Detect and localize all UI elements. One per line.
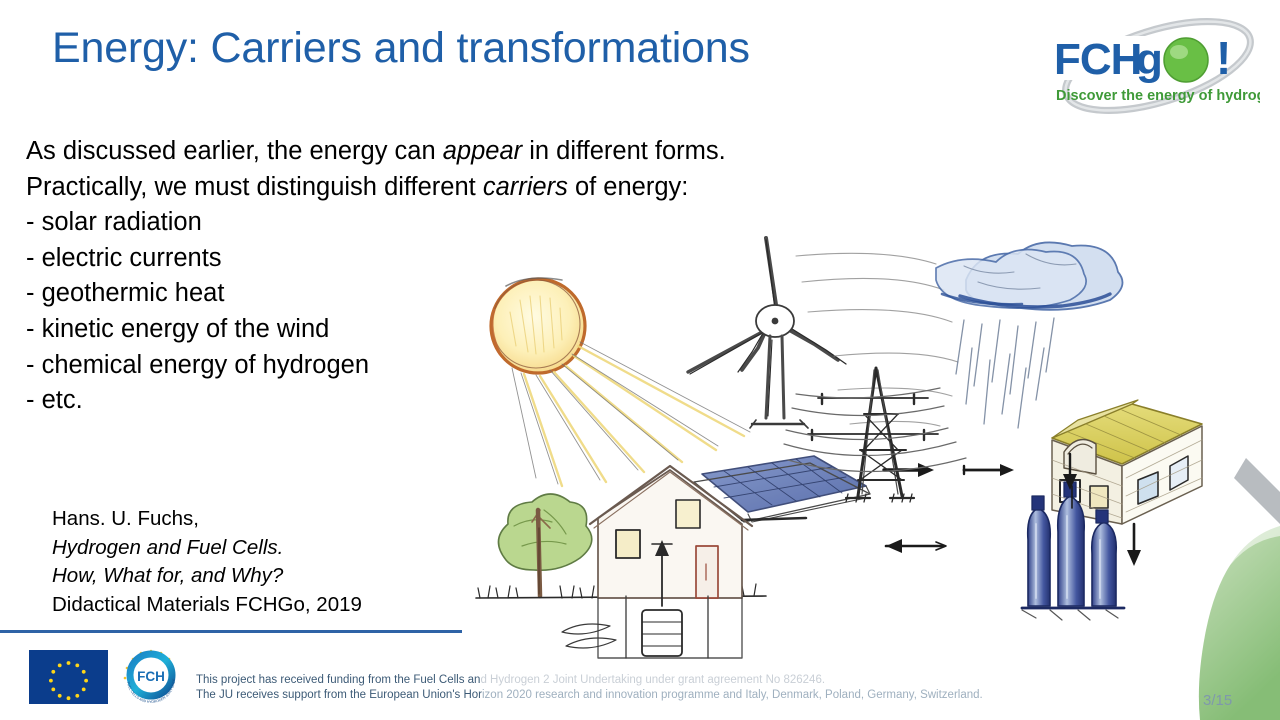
green-blob-shape xyxy=(1199,526,1280,720)
page-number: 3/15 xyxy=(1203,692,1232,709)
brand-tagline: Discover the energy of hydrogen xyxy=(1056,88,1260,104)
arrow-right-1-icon xyxy=(884,463,934,477)
brand-wordmark-fchg: FCH xyxy=(1054,35,1141,84)
funding-line-2: The JU receives support from the Europea… xyxy=(196,688,1196,703)
body-line-1: As discussed earlier, the energy can app… xyxy=(26,134,866,170)
funding-statement: This project has received funding from t… xyxy=(196,673,1196,703)
fchgo-logo-svg: FCH g ! Discover the energy of hydrogen xyxy=(1040,18,1260,114)
gray-chevron-shape xyxy=(1234,458,1280,524)
tree-icon xyxy=(498,494,591,596)
eu-flag-svg xyxy=(29,650,108,704)
citation-subtitle: How, What for, and Why? xyxy=(52,562,362,591)
funding-line-1-occluded: d Hydrogen 2 Joint Undertaking under gra… xyxy=(480,674,825,686)
fch-ju-logo: FCH FUEL CELLS AND HYDROGEN JOINT UNDERT… xyxy=(118,646,184,708)
body-line-2-part-b: of energy: xyxy=(568,173,689,201)
european-union-flag xyxy=(29,650,108,704)
body-line-2-part-a: Practically, we must distinguish differe… xyxy=(26,173,483,201)
citation-title: Hydrogen and Fuel Cells. xyxy=(52,534,362,563)
funding-line-2-faded: izon 2020 research and innovation progra… xyxy=(482,689,983,701)
fch-ju-logo-svg: FCH FUEL CELLS AND HYDROGEN JOINT UNDERT… xyxy=(118,646,184,708)
fch-logo-text: FCH xyxy=(137,669,165,684)
energy-carriers-illustration-svg xyxy=(466,228,1206,698)
arrow-left-icon xyxy=(886,539,946,553)
funding-line-1: This project has received funding from t… xyxy=(196,673,1196,688)
citation-author: Hans. U. Fuchs, xyxy=(52,505,362,534)
body-line-2-emphasis: carriers xyxy=(483,173,568,201)
energy-carriers-illustration xyxy=(466,228,1206,698)
rain-cloud-icon xyxy=(936,242,1123,428)
slide: Energy: Carriers and transformations FCH… xyxy=(0,0,1280,720)
citation-source: Didactical Materials FCHGo, 2019 xyxy=(52,591,362,620)
arrow-down-icon xyxy=(1127,524,1141,566)
funding-line-2-visible: The JU receives support from the Europea… xyxy=(196,689,482,701)
citation-block: Hans. U. Fuchs, Hydrogen and Fuel Cells.… xyxy=(52,505,362,619)
page-title: Energy: Carriers and transformations xyxy=(52,26,750,71)
wind-streamlines-icon xyxy=(796,253,958,426)
sun-icon xyxy=(491,278,585,373)
brand-wordmark-exclamation: ! xyxy=(1216,32,1231,84)
body-line-1-emphasis: appear xyxy=(443,137,522,165)
body-line-1-part-a: As discussed earlier, the energy can xyxy=(26,137,443,165)
rain-streaks-icon xyxy=(956,318,1054,428)
fchgo-logo: FCH g ! Discover the energy of hydrogen xyxy=(1040,18,1260,114)
brand-wordmark-g: g xyxy=(1136,35,1163,84)
green-sphere-icon xyxy=(1164,38,1208,82)
body-line-1-part-b: in different forms. xyxy=(522,137,726,165)
geothermal-loop-icon xyxy=(562,624,616,648)
arrow-right-2-icon xyxy=(964,464,1014,476)
footer-divider xyxy=(0,630,462,633)
funding-line-1-visible: This project has received funding from t… xyxy=(196,674,480,686)
house-with-geothermal-basement-icon xyxy=(562,466,752,658)
body-line-2: Practically, we must distinguish differe… xyxy=(26,170,866,206)
